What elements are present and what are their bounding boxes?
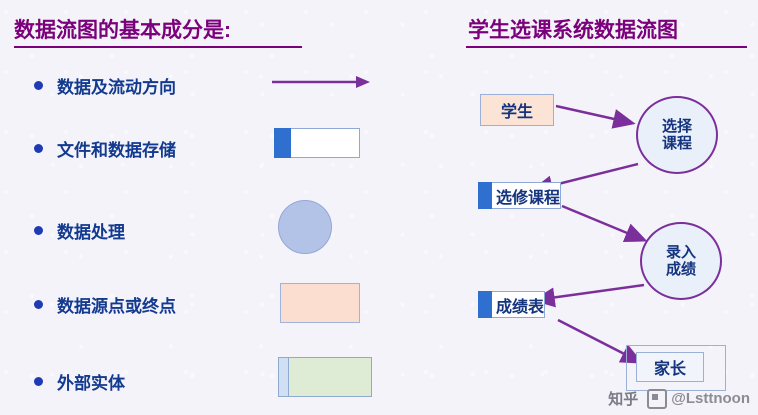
node-label-line2: 课程 — [662, 135, 692, 152]
store-tab-icon — [478, 291, 492, 318]
legend-label: 数据及流动方向 — [57, 73, 176, 98]
legend-item-data-store: 文件和数据存储 — [34, 136, 176, 161]
bullet-icon — [34, 377, 43, 386]
zhihu-logo-icon — [647, 389, 667, 409]
slide-canvas: 数据流图的基本成分是: 学生选课系统数据流图 数据及流动方向 文件和数据存储 数… — [0, 0, 758, 415]
node-label: 选修课程 — [492, 182, 561, 209]
node-enter-grade[interactable]: 录入 成绩 — [640, 222, 722, 300]
node-label: 学生 — [501, 98, 533, 122]
left-title-underline — [14, 46, 302, 48]
right-title: 学生选课系统数据流图 — [468, 14, 678, 44]
node-label-line1: 录入 — [666, 244, 696, 261]
legend-shape-arrow-icon — [272, 72, 372, 92]
legend-item-process: 数据处理 — [34, 218, 125, 243]
node-student[interactable]: 学生 — [480, 94, 554, 126]
legend-shape-circle-icon — [278, 200, 332, 254]
node-teacher-outer-frame — [626, 345, 726, 391]
legend-shape-data-store-icon — [274, 128, 360, 158]
node-select-course[interactable]: 选择 课程 — [636, 96, 718, 174]
node-label-line1: 选择 — [662, 118, 692, 135]
legend-shape-rect-peach-icon — [280, 283, 360, 323]
watermark-user: @Lsttnoon — [671, 390, 750, 407]
right-title-underline — [466, 46, 747, 48]
bullet-icon — [34, 81, 43, 90]
watermark-site: 知乎 — [608, 388, 638, 409]
left-title: 数据流图的基本成分是: — [14, 14, 231, 44]
legend-label: 数据源点或终点 — [57, 292, 176, 317]
legend-item-data-flow: 数据及流动方向 — [34, 73, 176, 98]
legend-item-source-sink: 数据源点或终点 — [34, 292, 176, 317]
bullet-icon — [34, 300, 43, 309]
node-grade-table[interactable]: 成绩表 — [478, 291, 586, 318]
bullet-icon — [34, 144, 43, 153]
store-tab-icon — [478, 182, 492, 209]
bullet-icon — [34, 226, 43, 235]
node-label-line2: 成绩 — [666, 261, 696, 278]
legend-shape-rect-green-icon — [278, 357, 374, 399]
node-elective-course[interactable]: 选修课程 — [478, 182, 606, 209]
legend-label: 外部实体 — [57, 369, 125, 394]
node-label: 成绩表 — [492, 291, 545, 318]
watermark: 知乎 @Lsttnoon — [608, 388, 750, 409]
legend-label: 数据处理 — [57, 218, 125, 243]
legend-item-external-entity: 外部实体 — [34, 369, 125, 394]
legend-label: 文件和数据存储 — [57, 136, 176, 161]
